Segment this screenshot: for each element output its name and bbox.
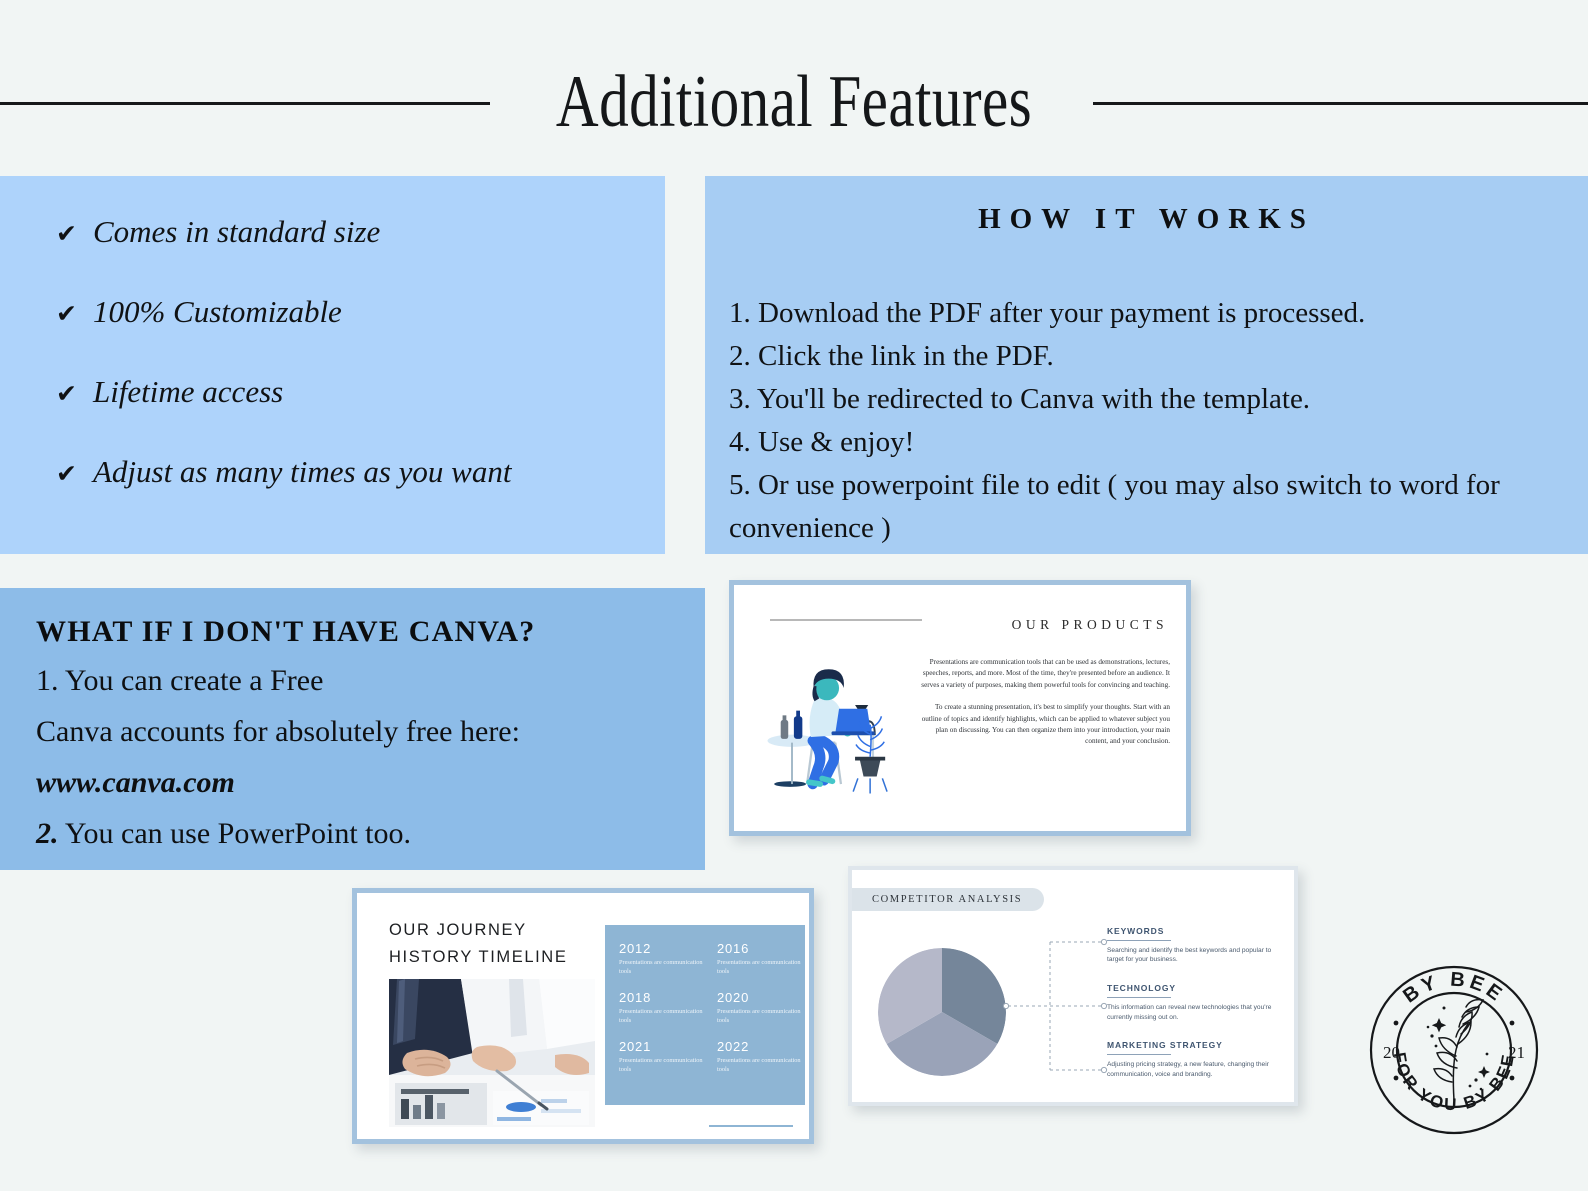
canva-step-2-text: You can use PowerPoint too. [59, 817, 412, 850]
logo-top-text: BY BEE [1399, 969, 1509, 1008]
how-it-works-steps: 1. Download the PDF after your payment i… [705, 292, 1588, 550]
sparkles-icon [1427, 1007, 1490, 1091]
slide-title-line1: OUR JOURNEY [389, 917, 567, 944]
slide-thumbnail-our-products[interactable]: OUR PRODUCTS [729, 580, 1191, 836]
competitor-item: MARKETING STRATEGY Adjusting pricing str… [1107, 1040, 1287, 1079]
feature-label: Adjust as many times as you want [93, 454, 512, 490]
timeline-caption: Presentations are communication tools [619, 1056, 707, 1074]
slide-body-text: Presentations are communication tools th… [920, 657, 1170, 748]
paragraph: To create a stunning presentation, it's … [920, 702, 1170, 748]
slide-thumbnail-competitor-analysis[interactable]: COMPETITOR ANALYSIS KEYWORD [848, 866, 1298, 1106]
timeline-year: 2022 [717, 1039, 805, 1054]
divider [709, 1125, 793, 1127]
list-item: 5. Or use powerpoint file to edit ( you … [729, 464, 1564, 550]
list-item: 4. Use & enjoy! [729, 421, 1564, 464]
list-item: ✔ Adjust as many times as you want [56, 454, 665, 490]
timeline-grid: 2012 Presentations are communication too… [619, 941, 805, 1074]
divider [1107, 1054, 1171, 1055]
timeline-year: 2021 [619, 1039, 707, 1054]
competitor-items: KEYWORDS Searching and identify the best… [1107, 926, 1287, 1079]
logo-year-right: 21 [1508, 1043, 1525, 1062]
list-item: 1. Download the PDF after your payment i… [729, 292, 1564, 335]
canva-panel-heading: WHAT IF I DON'T HAVE CANVA? [36, 615, 705, 649]
by-bee-logo-stamp: BY BEE FOR YOU BY BEE 20 21 [1366, 962, 1542, 1138]
canva-step-1: 1. You can create a Free [36, 655, 705, 706]
check-icon: ✔ [56, 299, 77, 328]
slide-title-line2: HISTORY TIMELINE [389, 944, 567, 971]
pie-chart [878, 948, 1006, 1076]
competitor-item: KEYWORDS Searching and identify the best… [1107, 926, 1287, 965]
page-title: Additional Features [159, 55, 1429, 150]
connector-lines [1002, 926, 1112, 1086]
list-item: 2. Click the link in the PDF. [729, 335, 1564, 378]
list-item: 3. You'll be redirected to Canva with th… [729, 378, 1564, 421]
canva-step-2: 2. You can use PowerPoint too. [36, 808, 705, 859]
item-text: Adjusting pricing strategy, a new featur… [1107, 1060, 1287, 1079]
timeline-caption: Presentations are communication tools [717, 1007, 805, 1025]
divider [1107, 997, 1171, 998]
logo-year-left: 20 [1383, 1043, 1400, 1062]
canva-step-2-number: 2. [36, 817, 59, 850]
botanical-sprig-icon [1434, 1000, 1483, 1100]
timeline-caption: Presentations are communication tools [717, 958, 805, 976]
check-icon: ✔ [56, 379, 77, 408]
canva-panel: WHAT IF I DON'T HAVE CANVA? 1. You can c… [0, 588, 705, 870]
features-list: ✔ Comes in standard size ✔ 100% Customiz… [0, 176, 665, 490]
timeline-year: 2020 [717, 990, 805, 1005]
feature-label: 100% Customizable [93, 294, 342, 330]
feature-label: Comes in standard size [93, 214, 380, 250]
divider [770, 619, 922, 621]
svg-text:BY BEE: BY BEE [1399, 969, 1509, 1008]
feature-label: Lifetime access [93, 374, 283, 410]
timeline-entry: 2020 Presentations are communication too… [717, 990, 805, 1025]
list-item: ✔ Lifetime access [56, 374, 665, 410]
canva-panel-content: WHAT IF I DON'T HAVE CANVA? 1. You can c… [0, 588, 705, 859]
how-it-works-panel: HOW IT WORKS 1. Download the PDF after y… [705, 176, 1588, 554]
woman-with-laptop-illustration [760, 641, 920, 801]
item-heading: TECHNOLOGY [1107, 983, 1287, 993]
slide-thumbnail-our-journey[interactable]: OUR JOURNEY HISTORY TIMELINE [352, 888, 814, 1144]
check-icon: ✔ [56, 459, 77, 488]
timeline-block: 2012 Presentations are communication too… [605, 925, 805, 1105]
item-text: Searching and identify the best keywords… [1107, 946, 1287, 965]
slide-title: COMPETITOR ANALYSIS [852, 888, 1044, 911]
canva-step-1-cont: Canva accounts for absolutely free here: [36, 706, 705, 757]
canva-url-link[interactable]: www.canva.com [36, 757, 705, 808]
timeline-entry: 2021 Presentations are communication too… [619, 1039, 707, 1074]
timeline-year: 2016 [717, 941, 805, 956]
timeline-entry: 2012 Presentations are communication too… [619, 941, 707, 976]
timeline-year: 2018 [619, 990, 707, 1005]
timeline-year: 2012 [619, 941, 707, 956]
list-item: ✔ 100% Customizable [56, 294, 665, 330]
timeline-entry: 2022 Presentations are communication too… [717, 1039, 805, 1074]
competitor-item: TECHNOLOGY This information can reveal n… [1107, 983, 1287, 1022]
timeline-caption: Presentations are communication tools [619, 1007, 707, 1025]
slide-page: Additional Features ✔ Comes in standard … [0, 0, 1588, 1191]
list-item: ✔ Comes in standard size [56, 214, 665, 250]
divider [1107, 940, 1171, 941]
page-header: Additional Features [0, 55, 1588, 150]
item-heading: KEYWORDS [1107, 926, 1287, 936]
slide-title: OUR JOURNEY HISTORY TIMELINE [389, 917, 567, 971]
timeline-entry: 2016 Presentations are communication too… [717, 941, 805, 976]
paragraph: Presentations are communication tools th… [920, 657, 1170, 691]
item-heading: MARKETING STRATEGY [1107, 1040, 1287, 1050]
check-icon: ✔ [56, 219, 77, 248]
how-it-works-heading: HOW IT WORKS [705, 203, 1588, 236]
item-text: This information can reveal new technolo… [1107, 1003, 1287, 1022]
business-meeting-photo [389, 979, 595, 1127]
slide-title: OUR PRODUCTS [1012, 617, 1168, 633]
features-panel: ✔ Comes in standard size ✔ 100% Customiz… [0, 176, 665, 554]
timeline-caption: Presentations are communication tools [619, 958, 707, 976]
timeline-entry: 2018 Presentations are communication too… [619, 990, 707, 1025]
timeline-caption: Presentations are communication tools [717, 1056, 805, 1074]
